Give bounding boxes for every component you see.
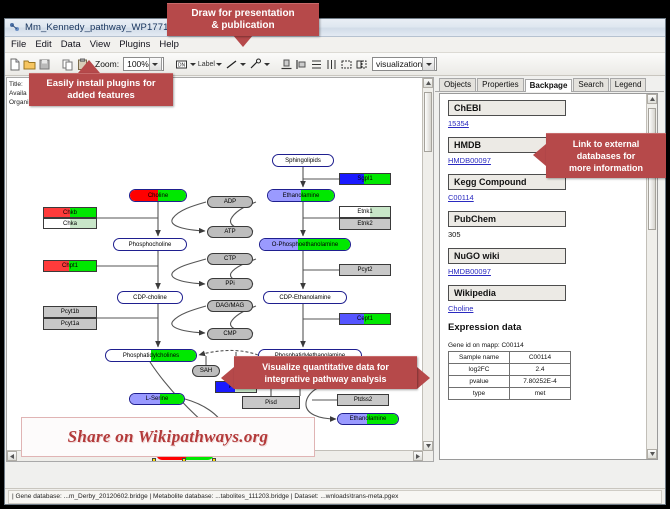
- pathway-node-lserine_left[interactable]: L-Serine: [129, 393, 185, 405]
- database-link-list: ChEBI15354HMDBHMDB00097Kegg CompoundC001…: [448, 100, 649, 313]
- pathway-node-pcyt1b[interactable]: Pcyt1b: [43, 306, 97, 318]
- group-icon[interactable]: [340, 57, 353, 72]
- scroll-down-icon-2[interactable]: [647, 449, 657, 459]
- canvas-vscroll-thumb[interactable]: [424, 92, 432, 152]
- db-header-wikipedia: Wikipedia: [448, 285, 566, 301]
- scroll-right-icon[interactable]: [413, 451, 423, 461]
- menu-item-help[interactable]: Help: [159, 39, 179, 50]
- svg-text:DN: DN: [178, 62, 186, 68]
- open-folder-icon[interactable]: [23, 57, 36, 72]
- title-bar: Mm_Kennedy_pathway_WP1771_45176.gpml: [5, 19, 665, 37]
- save-icon[interactable]: [38, 57, 51, 72]
- callout-share: Share on Wikipathways.org: [21, 417, 315, 457]
- callout-link-arrow: [533, 144, 546, 166]
- side-panel-tabs: ObjectsPropertiesBackpageSearchLegend: [435, 77, 664, 92]
- callout-visualize-line2: integrative pathway analysis: [262, 373, 389, 385]
- line-tool[interactable]: [224, 57, 246, 72]
- pathway-node-chka[interactable]: Chka: [43, 218, 97, 229]
- expr-key: pvalue: [449, 376, 510, 388]
- scroll-down-icon[interactable]: [423, 441, 433, 451]
- node-label-ethanolamine_bottom: Ethanolamine: [350, 416, 387, 422]
- expr-key: Sample name: [449, 352, 510, 364]
- scroll-up-icon[interactable]: [423, 78, 433, 88]
- pathway-node-cept1[interactable]: Cept1: [339, 313, 391, 325]
- expr-value: 2.4: [510, 364, 571, 376]
- zoom-value: 100%: [127, 59, 149, 69]
- db-value-pubchem: 305: [448, 230, 649, 239]
- pathway-node-sgpl1[interactable]: Sgpl1: [339, 173, 391, 185]
- callout-draw: Draw for presentation & publication: [167, 3, 319, 36]
- node-label-chpt1: Chpt1: [62, 263, 78, 269]
- node-label-pcyt1b: Pcyt1b: [61, 309, 79, 315]
- canvas-vscrollbar[interactable]: [422, 78, 433, 461]
- receptor-tool[interactable]: [248, 57, 270, 72]
- callout-visualize-arrow-right: [417, 367, 430, 389]
- callout-plugins-arrow: [78, 60, 100, 73]
- pathway-node-etnk1[interactable]: Etnk1: [339, 206, 391, 218]
- db-header-chebi: ChEBI: [448, 100, 566, 116]
- table-row: typemet: [449, 388, 571, 400]
- db-value-wikipedia[interactable]: Choline: [448, 304, 649, 313]
- pathway-node-ethanolamine_top[interactable]: Ethanolamine: [267, 189, 335, 202]
- callout-link-line1: Link to external: [569, 138, 643, 150]
- menu-bar: File Edit Data View Plugins Help: [5, 37, 665, 53]
- chevron-down-icon-2[interactable]: [422, 57, 435, 71]
- callout-plugins: Easily install plugins for added feature…: [29, 73, 173, 106]
- tab-search[interactable]: Search: [573, 78, 608, 91]
- pathway-canvas[interactable]: Title: Availa Organi: [6, 77, 434, 462]
- callout-plugins-line2: added features: [46, 90, 155, 102]
- tab-legend[interactable]: Legend: [610, 78, 647, 91]
- scroll-up-icon-2[interactable]: [647, 94, 657, 104]
- node-label-cdp_choline: CDP-choline: [133, 295, 167, 301]
- pathway-node-choline_top[interactable]: Choline: [129, 189, 187, 202]
- menu-item-file[interactable]: File: [11, 39, 26, 50]
- menu-item-view[interactable]: View: [90, 39, 110, 50]
- pathway-node-ppi[interactable]: PPi: [207, 278, 253, 290]
- node-label-adp: ADP: [224, 199, 236, 205]
- meta-title: Title:: [9, 80, 29, 89]
- visualization-combo[interactable]: visualization: [372, 57, 437, 71]
- label-tool-text: Label: [198, 61, 215, 68]
- callout-visualize: Visualize quantitative data for integrat…: [234, 356, 417, 389]
- gene-id-line: Gene id on mapp: C00114: [448, 342, 649, 349]
- status-text: | Gene database: ...m_Derby_20120602.bri…: [12, 493, 398, 500]
- node-label-pcyt2: Pcyt2: [357, 267, 372, 273]
- db-header-nugo-wiki: NuGO wiki: [448, 248, 566, 264]
- callout-share-text: Share on Wikipathways.org: [68, 427, 269, 447]
- callout-link: Link to external databases for more info…: [546, 133, 666, 178]
- align-top-icon[interactable]: [280, 57, 293, 72]
- distribute-horizontal-icon[interactable]: [325, 57, 338, 72]
- selection-handle[interactable]: [152, 458, 156, 462]
- visualization-value: visualization: [376, 59, 422, 69]
- callout-link-line3: more information: [569, 162, 643, 174]
- new-file-icon[interactable]: [8, 57, 21, 72]
- pathway-node-chkb[interactable]: Chkb: [43, 207, 97, 218]
- expression-table: Sample nameC00114log2FC2.4pvalue7.80252E…: [448, 351, 571, 400]
- tab-objects[interactable]: Objects: [439, 78, 476, 91]
- pathway-node-ophosphoethanolamine[interactable]: O-Phosphoethanolamine: [259, 238, 351, 251]
- node-label-lserine_left: L-Serine: [146, 396, 169, 402]
- expression-data-title: Expression data: [448, 322, 649, 333]
- pathway-node-cdp_choline[interactable]: CDP-choline: [117, 291, 183, 304]
- menu-item-plugins[interactable]: Plugins: [119, 39, 150, 50]
- node-label-etnk2: Etnk2: [357, 221, 372, 227]
- node-label-ophosphoethanolamine: O-Phosphoethanolamine: [272, 242, 338, 248]
- callout-draw-line2: & publication: [191, 20, 294, 32]
- datanode-icon[interactable]: DN: [174, 57, 189, 72]
- align-left-icon[interactable]: [295, 57, 308, 72]
- receptor-icon[interactable]: [248, 57, 263, 72]
- tab-backpage[interactable]: Backpage: [525, 79, 573, 92]
- menu-item-edit[interactable]: Edit: [35, 39, 51, 50]
- meta-availability: Availa: [9, 89, 29, 98]
- pathway-node-etnk2[interactable]: Etnk2: [339, 218, 391, 230]
- line-icon[interactable]: [224, 57, 239, 72]
- node-label-chka: Chka: [63, 221, 77, 227]
- pathway-node-phosphocholine[interactable]: Phosphocholine: [113, 238, 187, 251]
- pathway-node-pisd[interactable]: Pisd: [242, 396, 300, 409]
- pathway-node-pcyt1a[interactable]: Pcyt1a: [43, 318, 97, 330]
- pathvisio-icon: [9, 22, 20, 33]
- node-label-pcyt1a: Pcyt1a: [61, 321, 79, 327]
- label-tool[interactable]: Label: [198, 61, 222, 68]
- pathway-node-cdp_ethanolamine[interactable]: CDP-Ethanolamine: [263, 291, 347, 304]
- node-label-sphingolipids: Sphingolipids: [285, 158, 321, 164]
- menu-item-data[interactable]: Data: [61, 39, 81, 50]
- pathway-node-ethanolamine_bottom[interactable]: Ethanolamine: [337, 413, 399, 425]
- node-label-pisd: Pisd: [265, 400, 277, 406]
- copy-icon[interactable]: [61, 57, 74, 72]
- db-header-pubchem: PubChem: [448, 211, 566, 227]
- meta-organism: Organi: [9, 98, 29, 107]
- canvas-meta-labels: Title: Availa Organi: [9, 80, 29, 107]
- pathway-node-adp[interactable]: ADP: [207, 196, 253, 208]
- zoom-combo[interactable]: 100%: [123, 57, 164, 71]
- pathway-node-dagmag[interactable]: DAG/MAG: [207, 300, 253, 312]
- callout-link-line2: databases for: [569, 150, 643, 162]
- callout-visualize-arrow-left: [221, 367, 234, 389]
- ungroup-icon[interactable]: [355, 57, 368, 72]
- node-label-ctp: CTP: [224, 256, 236, 262]
- selection-handle[interactable]: [212, 458, 216, 462]
- node-label-chkb: Chkb: [63, 210, 77, 216]
- datanode-tool[interactable]: DN: [174, 57, 196, 72]
- table-row: log2FC2.4: [449, 364, 571, 376]
- tab-properties[interactable]: Properties: [477, 78, 523, 91]
- db-value-kegg-compound[interactable]: C00114: [448, 193, 649, 202]
- node-label-atp: ATP: [224, 229, 235, 235]
- pathway-node-cmp[interactable]: CMP: [207, 328, 253, 340]
- node-label-ppi: PPi: [225, 281, 234, 287]
- node-label-ethanolamine_top: Ethanolamine: [283, 193, 320, 199]
- pathway-node-ptdss2[interactable]: Ptdss2: [337, 394, 389, 406]
- status-bar: | Gene database: ...m_Derby_20120602.bri…: [5, 488, 665, 504]
- node-label-dagmag: DAG/MAG: [216, 303, 244, 309]
- db-value-nugo-wiki[interactable]: HMDB00097: [448, 267, 649, 276]
- node-label-cept1: Cept1: [357, 316, 373, 322]
- node-label-cmp: CMP: [223, 331, 236, 337]
- scroll-left-icon[interactable]: [7, 451, 17, 461]
- callout-visualize-line1: Visualize quantitative data for: [262, 361, 389, 373]
- node-label-ptdss2: Ptdss2: [354, 397, 372, 403]
- callout-draw-line1: Draw for presentation: [191, 8, 294, 20]
- db-value-chebi[interactable]: 15354: [448, 119, 649, 128]
- node-fill-etnk1-1: [370, 207, 390, 217]
- chevron-down-icon[interactable]: [149, 57, 162, 71]
- expr-value: C00114: [510, 352, 571, 364]
- expr-value: 7.80252E-4: [510, 376, 571, 388]
- pathway-node-pcyt2[interactable]: Pcyt2: [339, 264, 391, 276]
- callout-plugins-line1: Easily install plugins for: [46, 78, 155, 90]
- node-label-cdp_ethanolamine: CDP-Ethanolamine: [279, 295, 330, 301]
- expr-key: type: [449, 388, 510, 400]
- table-row: pvalue7.80252E-4: [449, 376, 571, 388]
- node-label-etnk1: Etnk1: [357, 209, 372, 215]
- node-label-sgpl1: Sgpl1: [357, 176, 372, 182]
- node-label-phosphocholine: Phosphocholine: [129, 242, 172, 248]
- pathway-node-atp[interactable]: ATP: [207, 226, 253, 238]
- pathway-node-sah[interactable]: SAH: [192, 365, 220, 377]
- expr-key: log2FC: [449, 364, 510, 376]
- node-label-ptdcholines: Phosphatidylcholines: [123, 353, 179, 359]
- node-label-sah: SAH: [200, 368, 212, 374]
- pathway-node-sphingolipids[interactable]: Sphingolipids: [272, 154, 334, 167]
- pathway-node-ptdcholines[interactable]: Phosphatidylcholines: [105, 349, 197, 362]
- expr-value: met: [510, 388, 571, 400]
- distribute-vertical-icon[interactable]: [310, 57, 323, 72]
- pathway-node-chpt1[interactable]: Chpt1: [43, 260, 97, 272]
- node-label-choline_top: Choline: [148, 193, 168, 199]
- table-row: Sample nameC00114: [449, 352, 571, 364]
- selection-handle[interactable]: [182, 458, 186, 462]
- pathvisio-window: Mm_Kennedy_pathway_WP1771_45176.gpml Fil…: [4, 18, 666, 505]
- pathway-node-ctp[interactable]: CTP: [207, 253, 253, 265]
